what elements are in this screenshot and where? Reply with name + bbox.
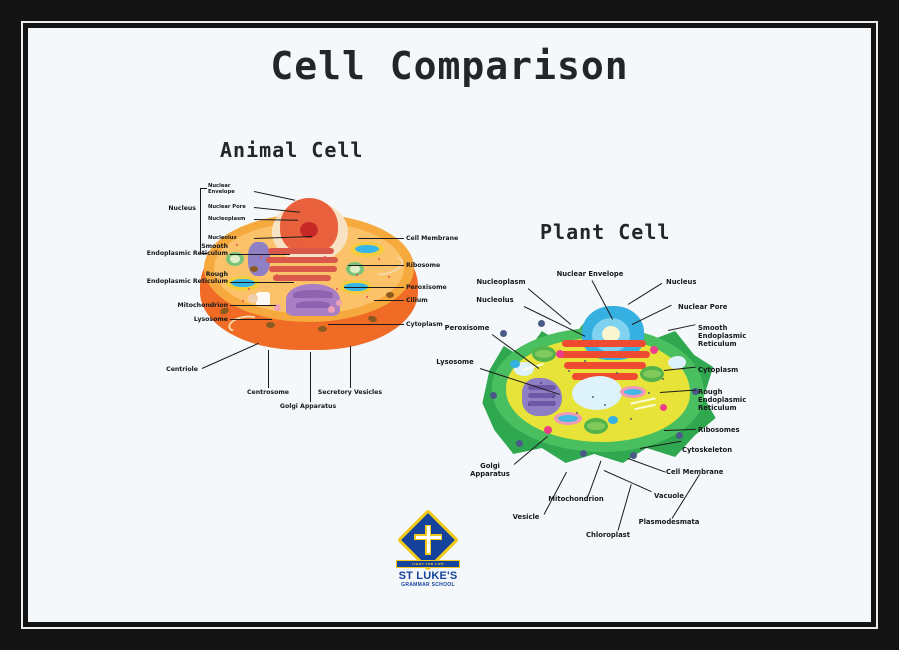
plant-label-rough-er: Rough Endoplasmic Reticulum	[698, 388, 772, 412]
plant-label-nuclear-envelope: Nuclear Envelope	[546, 270, 634, 278]
leader-line	[230, 254, 290, 255]
animal-label-centriole: Centriole	[136, 366, 198, 373]
plant-plasmodesmata	[630, 452, 637, 459]
plant-vesicle	[650, 346, 658, 354]
plant-plasmodesmata	[500, 330, 507, 337]
animal-centrosome	[248, 294, 258, 303]
plant-label-plasmodesmata: Plasmodesmata	[626, 518, 712, 526]
plant-label-chloroplast: Chloroplast	[574, 531, 642, 539]
leader-line	[268, 350, 269, 388]
animal-centriole	[256, 292, 270, 306]
animal-label-nuclear-envelope: Nuclear Envelope	[208, 183, 256, 195]
plant-chloroplast	[532, 346, 556, 362]
logo-school-name: ST LUKE'S	[388, 570, 468, 582]
plant-label-lysosome: Lysosome	[426, 358, 484, 366]
logo-cross-highlight	[416, 536, 441, 539]
logo-cross-highlight	[427, 526, 430, 553]
plant-label-vacuole: Vacuole	[654, 492, 726, 500]
poster-frame: Cell Comparison Animal Cell	[0, 0, 899, 650]
leader-line	[350, 346, 351, 388]
animal-secretory-vesicle	[328, 306, 335, 313]
animal-mitochondrion	[350, 242, 384, 257]
leader-line	[230, 305, 276, 306]
animal-organelle-speck	[266, 322, 275, 328]
leader-line	[358, 238, 404, 239]
animal-label-secretory-vesicles: Secretory Vesicles	[300, 389, 400, 396]
plant-label-peroxisome: Peroxisome	[436, 324, 498, 332]
animal-organelle-speck	[386, 292, 394, 298]
plant-label-cell-membrane: Cell Membrane	[666, 468, 748, 476]
leader-line	[374, 300, 404, 301]
plant-chloroplast	[584, 418, 608, 434]
logo-banner-text: LIGHT FOR LIFE	[397, 561, 459, 567]
animal-label-lysosome: Lysosome	[124, 316, 228, 323]
plant-label-nucleolus: Nucleolus	[466, 296, 524, 304]
animal-label-cell-membrane: Cell Membrane	[406, 235, 488, 242]
animal-label-nucleoplasm: Nucleoplasm	[208, 216, 256, 222]
animal-label-nuclear-pore: Nuclear Pore	[208, 204, 256, 210]
plant-plasmodesmata	[538, 320, 545, 327]
animal-organelle-speck	[318, 326, 327, 332]
plant-label-nucleus: Nucleus	[666, 278, 716, 286]
plant-plasmodesmata	[676, 432, 683, 439]
plant-label-golgi-apparatus: Golgi Apparatus	[462, 462, 518, 478]
plant-chloroplast	[640, 366, 664, 382]
plant-mitochondrion	[620, 386, 646, 398]
animal-label-smooth-er: Smooth Endoplasmic Reticulum	[104, 243, 228, 258]
plant-label-cytoplasm: Cytoplasm	[698, 366, 772, 374]
plant-label-smooth-er: Smooth Endoplasmic Reticulum	[698, 324, 772, 348]
plant-vesicle	[556, 350, 564, 358]
plant-peroxisome	[608, 416, 618, 424]
animal-cell-heading: Animal Cell	[220, 138, 363, 162]
page-title: Cell Comparison	[28, 44, 871, 88]
leader-line	[348, 265, 404, 266]
leader-line	[230, 319, 272, 320]
animal-label-nucleus: Nucleus	[146, 205, 196, 212]
animal-label-nucleolus: Nucleolus	[208, 235, 256, 241]
animal-label-centrosome: Centrosome	[230, 389, 306, 396]
plant-plasmodesmata	[580, 450, 587, 457]
plant-plasmodesmata	[516, 440, 523, 447]
animal-label-golgi-apparatus: Golgi Apparatus	[260, 403, 356, 410]
plant-vesicle	[544, 426, 552, 434]
leader-line	[230, 282, 294, 283]
plant-mitochondrion	[554, 412, 582, 425]
leader-line	[328, 324, 404, 325]
animal-label-ribosome: Ribosome	[406, 262, 488, 269]
plant-label-ribosomes: Ribosomes	[698, 426, 772, 434]
animal-label-rough-er: Rough Endoplasmic Reticulum	[104, 271, 228, 286]
animal-mitochondrion	[226, 276, 260, 291]
plant-cell-heading: Plant Cell	[540, 220, 670, 244]
leader-line	[344, 287, 404, 288]
plant-label-nucleoplasm: Nucleoplasm	[470, 278, 532, 286]
plant-peroxisome	[510, 360, 520, 368]
logo-school-subtitle: GRAMMAR SCHOOL	[388, 582, 468, 588]
plant-label-mitochondrion: Mitochondrion	[536, 495, 616, 503]
poster-canvas: Cell Comparison Animal Cell	[28, 28, 871, 622]
logo-banner: LIGHT FOR LIFE	[396, 560, 460, 568]
animal-secretory-vesicle	[336, 300, 342, 306]
plant-label-nuclear-pore: Nuclear Pore	[678, 303, 740, 311]
animal-label-mitochondrion: Mitochondrion	[124, 302, 228, 309]
plant-vesicle	[660, 404, 667, 411]
plant-label-cytoskeleton: Cytoskeleton	[682, 446, 756, 454]
plant-vacuole	[572, 376, 622, 410]
animal-organelle-speck	[250, 266, 258, 272]
school-logo: LIGHT FOR LIFE ST LUKE'S GRAMMAR SCHOOL	[388, 518, 468, 596]
plant-plasmodesmata	[490, 392, 497, 399]
